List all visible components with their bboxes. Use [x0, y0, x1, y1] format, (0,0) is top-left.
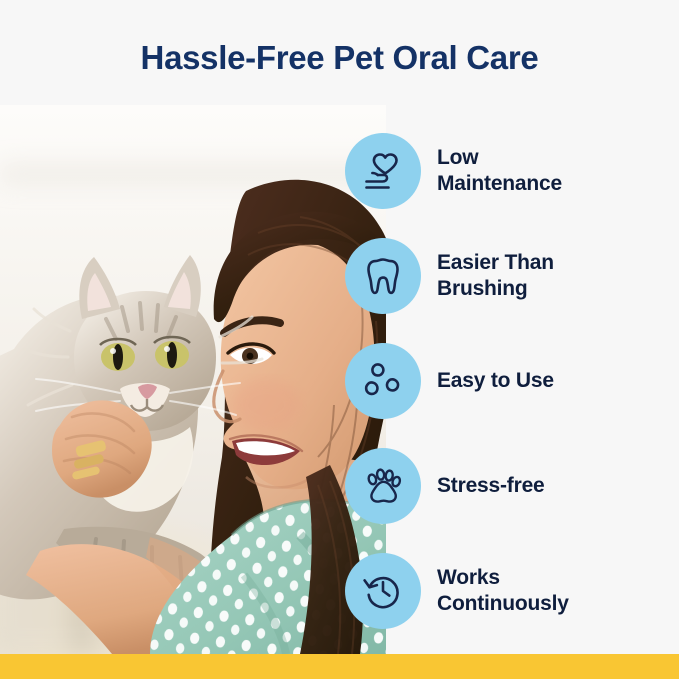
feature-icon-badge — [345, 133, 421, 209]
feature-label: Works Continuously — [437, 565, 569, 617]
feature-item-works-continuously[interactable]: Works Continuously — [345, 553, 569, 629]
feature-icon-badge — [345, 553, 421, 629]
hero-photo-illustration — [0, 105, 386, 654]
clock-arrow-icon — [360, 568, 406, 614]
feature-icon-badge — [345, 238, 421, 314]
feature-label: Stress-free — [437, 473, 545, 499]
feature-item-stress-free[interactable]: Stress-free — [345, 448, 545, 524]
heart-in-hand-icon — [360, 148, 406, 194]
bottom-accent-bar — [0, 654, 679, 679]
page-title: Hassle-Free Pet Oral Care — [0, 38, 679, 78]
feature-label: Low Maintenance — [437, 145, 562, 197]
feature-item-easy-to-use[interactable]: Easy to Use — [345, 343, 554, 419]
feature-list: Low Maintenance Easier Than Brushing Eas… — [345, 133, 679, 653]
feature-item-easier-than-brushing[interactable]: Easier Than Brushing — [345, 238, 554, 314]
chews-icon — [360, 358, 406, 404]
feature-item-low-maintenance[interactable]: Low Maintenance — [345, 133, 562, 209]
feature-icon-badge — [345, 448, 421, 524]
feature-icon-badge — [345, 343, 421, 419]
feature-label: Easy to Use — [437, 368, 554, 394]
promo-infographic: Hassle-Free Pet Oral Care — [0, 0, 679, 679]
feature-label: Easier Than Brushing — [437, 250, 554, 302]
hero-photo — [0, 105, 386, 654]
paw-print-icon — [360, 463, 406, 509]
tooth-icon — [361, 253, 405, 299]
